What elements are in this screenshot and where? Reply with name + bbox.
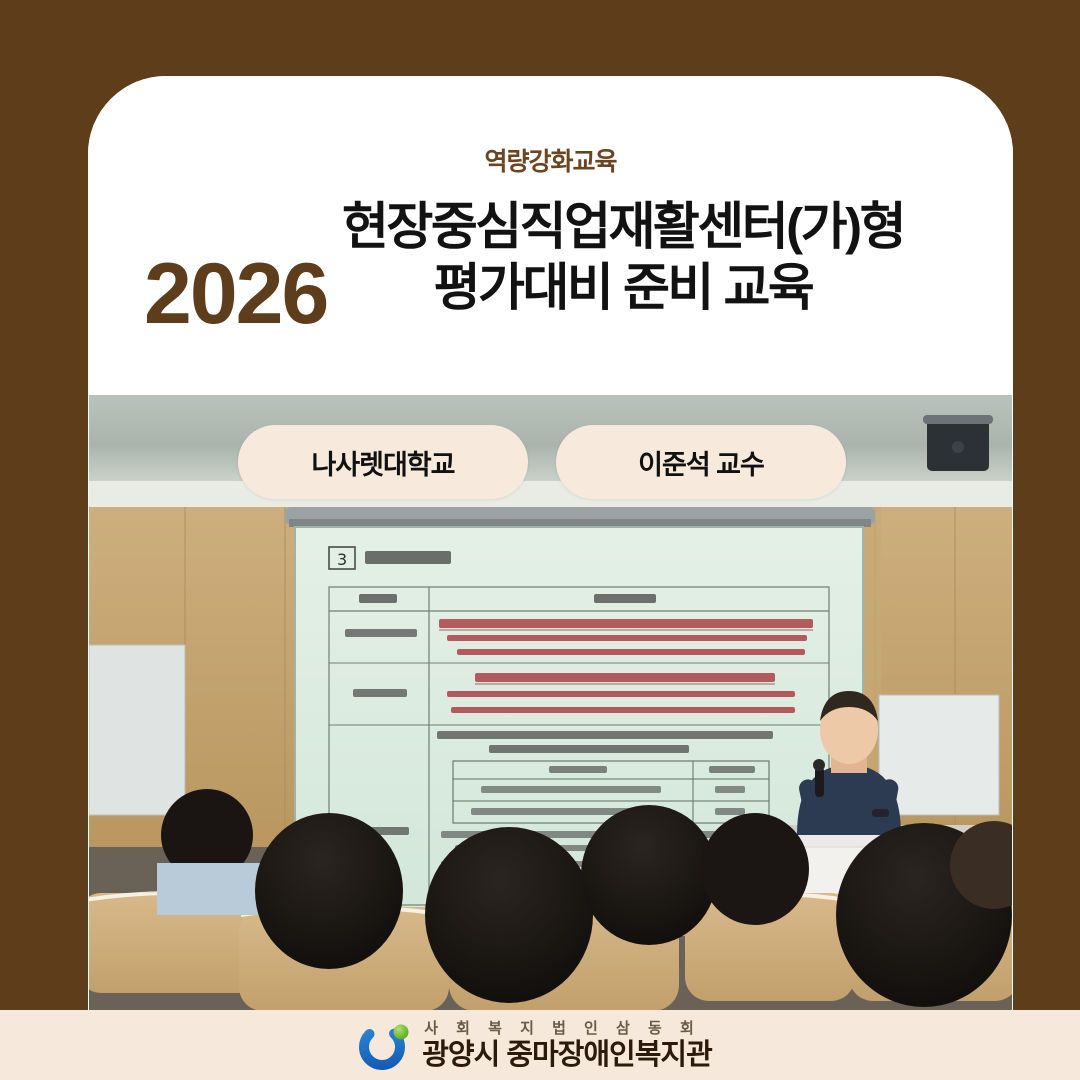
footer-bar: 사 회 복 지 법 인 삼 동 회 광양시 중마장애인복지관: [0, 1010, 1080, 1080]
poster-root: 역량강화교육 2026 현장중심직업재활센터(가)형 평가대비 준비 교육: [0, 0, 1080, 1080]
title-line-2: 평가대비 준비 교육: [238, 259, 1008, 316]
eyebrow-label: 역량강화교육: [88, 142, 1013, 178]
svg-text:3: 3: [337, 550, 347, 569]
pill-organization[interactable]: 나사렛대학교: [238, 425, 528, 499]
org-name-small: 사 회 복 지 법 인 삼 동 회: [422, 1021, 712, 1036]
page-title: 현장중심직업재활센터(가)형 평가대비 준비 교육: [238, 198, 1008, 316]
org-name-main: 광양시 중마장애인복지관: [422, 1041, 712, 1070]
content-card: 역량강화교육 2026 현장중심직업재활센터(가)형 평가대비 준비 교육: [88, 76, 1013, 1010]
title-line-1: 현장중심직업재활센터(가)형: [238, 198, 1008, 255]
event-photo: 3: [89, 395, 1012, 1010]
photo-illustration: 3: [89, 395, 1012, 1010]
header-block: 역량강화교육 2026 현장중심직업재활센터(가)형 평가대비 준비 교육: [88, 76, 1013, 395]
ceiling-speaker-icon: [923, 415, 993, 471]
samdong-logo-icon: [356, 1017, 412, 1073]
pill-speaker[interactable]: 이준석 교수: [556, 425, 846, 499]
